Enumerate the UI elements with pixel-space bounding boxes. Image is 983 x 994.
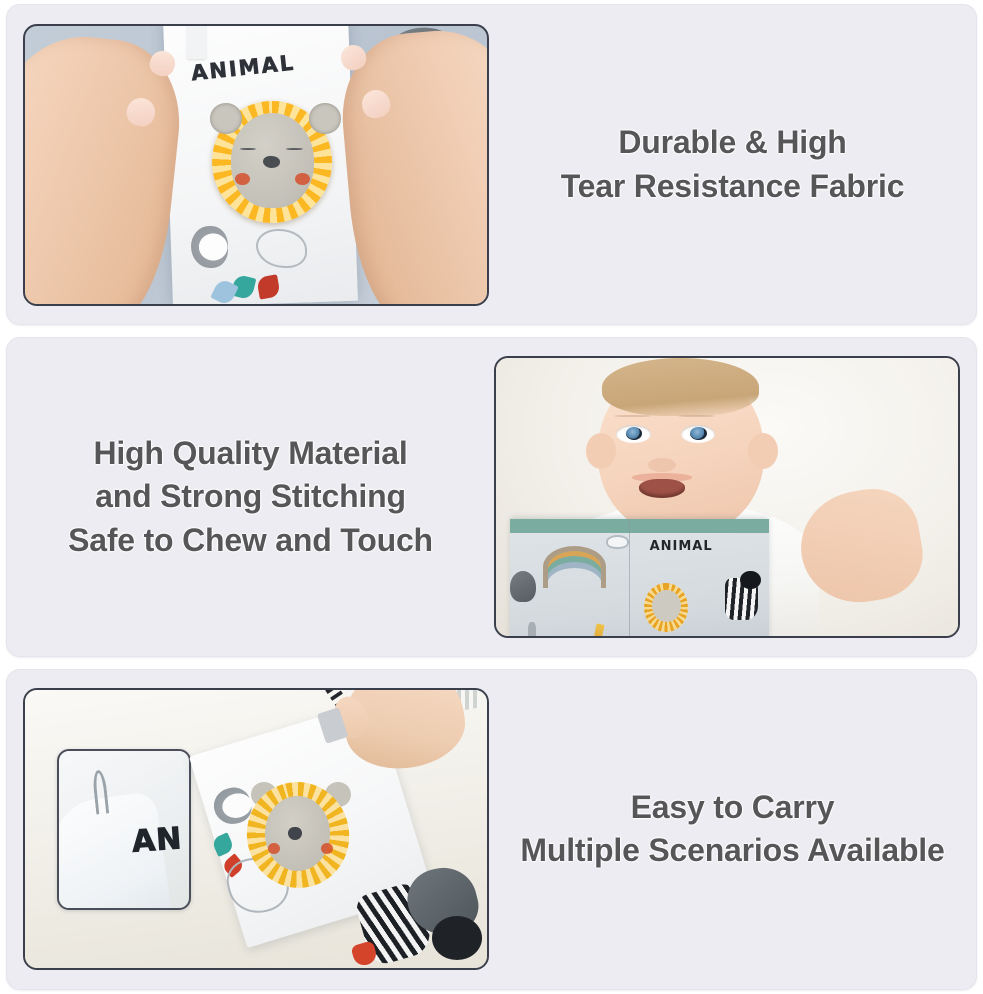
zebra-head [740, 571, 761, 589]
inset-thumbnail: AN [57, 749, 191, 910]
lion-cheek-right [321, 843, 333, 854]
lion-eye-right [286, 148, 303, 150]
book-strap [187, 24, 206, 59]
plush-black-toy [432, 916, 483, 960]
baby-brow-left [614, 415, 651, 417]
plush-gray-toy [510, 571, 536, 603]
inset-title-text: AN [131, 821, 184, 859]
feature-panel-material: ANIMAL High Quality Material and Strong … [6, 337, 977, 656]
baby-ear-left [586, 433, 616, 469]
panel-caption-durability: Durable & High Tear Resistance Fabric [489, 121, 976, 208]
tree-illustration [510, 519, 769, 532]
tree-illustration [528, 622, 536, 638]
product-feature-infographic: ANIMAL Durable & High Tea [0, 0, 983, 994]
baby-hair [602, 358, 759, 416]
feature-panel-durability: ANIMAL Durable & High Tea [6, 4, 977, 325]
feature-panel-portability: AN ANIMAL Easy to Carry [6, 669, 977, 990]
baby-with-open-cloth-book-photo: ANIMAL [494, 356, 960, 638]
panel-caption-material: High Quality Material and Strong Stitchi… [7, 432, 494, 563]
baby-ear-right [748, 433, 778, 469]
open-cloth-book: ANIMAL [510, 519, 769, 638]
flat-lay-book-with-inset-photo: AN ANIMAL [23, 688, 489, 970]
cloud-illustration [606, 535, 629, 548]
baby-eye-right [681, 425, 716, 443]
hands-holding-cloth-book-photo: ANIMAL [23, 24, 489, 306]
baby-brow-right [678, 415, 715, 417]
lion-face-shape [652, 590, 680, 622]
lion-ear-left [210, 103, 242, 134]
hanging-hook [92, 769, 110, 814]
pencil-illustration [594, 624, 605, 638]
baby-eye-left [616, 425, 651, 443]
hedgehog-illustration [191, 226, 228, 268]
rainbow-illustration [543, 546, 605, 588]
panel-caption-portability: Easy to Carry Multiple Scenarios Availab… [489, 786, 976, 873]
lion-eye-left [240, 148, 257, 150]
book-spine [629, 519, 630, 638]
baby-nose [648, 458, 676, 472]
book-title-text: ANIMAL [650, 539, 713, 554]
lion-cheek-left [268, 843, 280, 854]
